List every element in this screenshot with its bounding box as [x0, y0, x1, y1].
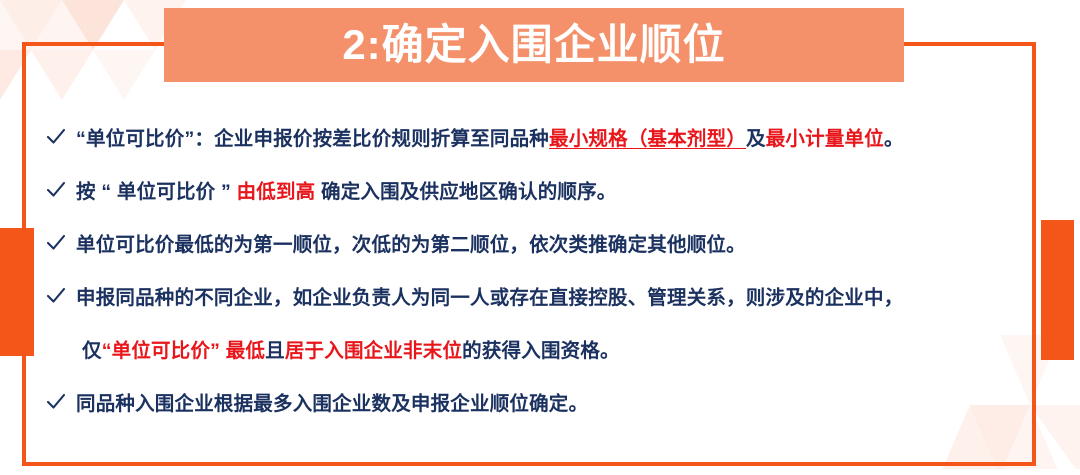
- slide-canvas: 2:确定入围企业顺位 “单位可比价”：企业申报价按差比价规则折算至同品种最小规格…: [0, 0, 1080, 475]
- text-segment-highlight: 由低到高: [237, 181, 316, 203]
- text-segment: 。: [884, 128, 904, 150]
- list-item: 申报同品种的不同企业，如企业负责人为同一人或存在直接控股、管理关系，则涉及的企业…: [46, 283, 1036, 336]
- text-segment: 且: [265, 340, 285, 362]
- check-icon: [46, 283, 76, 305]
- text-segment-highlight: 最低: [226, 340, 265, 362]
- list-item: 单位可比价最低的为第一顺位，次低的为第二顺位，依次类推确定其他顺位。: [46, 230, 1036, 283]
- list-item-text: 仅“单位可比价” 最低且居于入围企业非末位的获得入围资格。: [82, 336, 620, 364]
- text-segment: 单位可比价最低的为第一顺位，次低的为第二顺位，依次类推确定其他顺位。: [76, 234, 746, 256]
- list-item-text: 单位可比价最低的为第一顺位，次低的为第二顺位，依次类推确定其他顺位。: [76, 230, 746, 258]
- left-accent-block: [0, 228, 34, 356]
- bullet-list: “单位可比价”：企业申报价按差比价规则折算至同品种最小规格（基本剂型）及最小计量…: [46, 124, 1036, 454]
- list-item: 同品种入围企业根据最多入围企业数及申报企业顺位确定。: [46, 389, 1036, 442]
- text-segment: 确定入围及供应地区确认的顺序。: [315, 181, 616, 203]
- text-segment: 同品种入围企业根据最多入围企业数及申报企业顺位确定。: [76, 393, 588, 415]
- text-segment: 仅: [82, 340, 102, 362]
- text-segment-highlight: 最小计量单位: [766, 128, 884, 150]
- list-item-text: 按 “ 单位可比价 ” 由低到高 确定入围及供应地区确认的顺序。: [76, 177, 617, 205]
- right-accent-block: [1041, 220, 1074, 360]
- check-icon: [46, 124, 76, 146]
- text-segment-highlight: 居于入围企业非末位: [285, 340, 462, 362]
- text-segment: 及: [746, 128, 766, 150]
- text-segment: “单位可比价”：企业申报价按差比价规则折算至同品种: [76, 128, 549, 150]
- check-icon: [46, 177, 76, 199]
- list-item: “单位可比价”：企业申报价按差比价规则折算至同品种最小规格（基本剂型）及最小计量…: [46, 124, 1036, 177]
- text-segment: 按 “ 单位可比价 ”: [76, 181, 237, 203]
- list-item-continuation: 仅“单位可比价” 最低且居于入围企业非末位的获得入围资格。: [46, 336, 1036, 389]
- text-segment-highlight: “单位可比价”: [102, 340, 220, 362]
- text-segment-highlight: 最小规格（基本剂型）: [549, 128, 746, 150]
- check-icon: [46, 389, 76, 411]
- list-item-text: “单位可比价”：企业申报价按差比价规则折算至同品种最小规格（基本剂型）及最小计量…: [76, 124, 904, 152]
- frame-bottom-mask: [0, 469, 1080, 475]
- list-item-text: 同品种入围企业根据最多入围企业数及申报企业顺位确定。: [76, 389, 588, 417]
- check-icon: [46, 230, 76, 252]
- list-item-text: 申报同品种的不同企业，如企业负责人为同一人或存在直接控股、管理关系，则涉及的企业…: [76, 283, 903, 311]
- text-segment: 申报同品种的不同企业，如企业负责人为同一人或存在直接控股、管理关系，则涉及的企业…: [76, 287, 903, 309]
- list-item: 按 “ 单位可比价 ” 由低到高 确定入围及供应地区确认的顺序。: [46, 177, 1036, 230]
- slide-title-banner: 2:确定入围企业顺位: [164, 8, 904, 82]
- text-segment: 的获得入围资格。: [462, 340, 620, 362]
- page-title: 2:确定入围企业顺位: [342, 24, 725, 66]
